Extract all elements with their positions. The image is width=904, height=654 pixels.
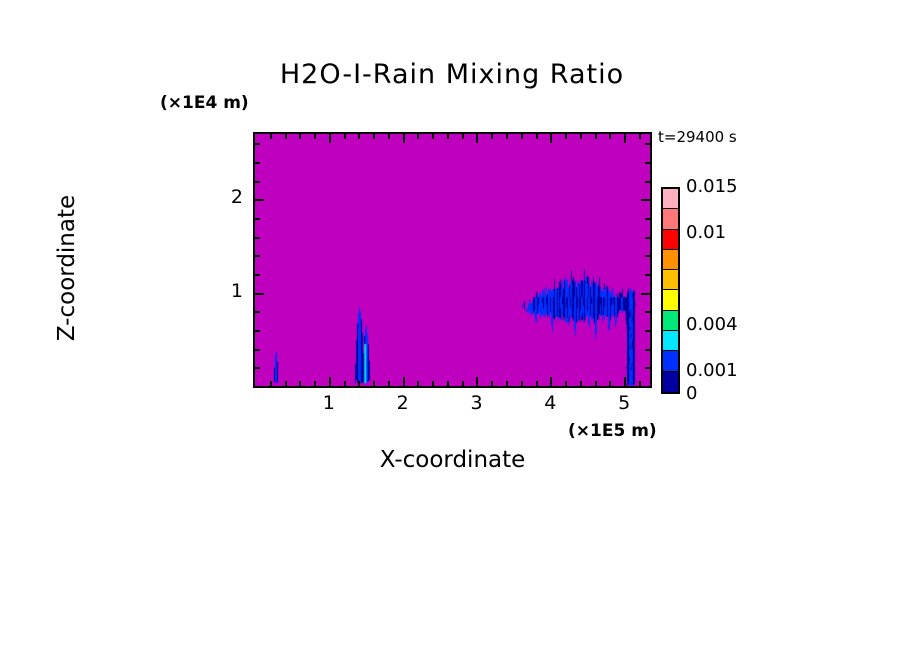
x-tick-label: 4 [530, 392, 570, 414]
x-tick-label: 5 [604, 392, 644, 414]
y-tick-label: 1 [213, 280, 243, 302]
x-tick [536, 381, 538, 386]
x-axis-title: X-coordinate [253, 447, 652, 473]
x-tick [447, 381, 449, 386]
x-tick-top [285, 134, 287, 139]
x-tick [314, 381, 316, 386]
x-tick [595, 381, 597, 386]
x-tick-top [536, 134, 538, 139]
x-tick-top [639, 134, 641, 139]
x-tick-top [595, 134, 597, 139]
contour-field [255, 134, 650, 386]
y-tick-right [641, 199, 650, 201]
y-tick [255, 274, 260, 276]
y-tick-right [645, 311, 650, 313]
y-tick [255, 218, 260, 220]
y-tick [255, 199, 264, 201]
x-tick [639, 381, 641, 386]
x-tick [521, 381, 523, 386]
x-tick [329, 377, 331, 386]
colorbar-segment [663, 331, 678, 351]
y-tick-right [645, 162, 650, 164]
y-tick-right [645, 274, 650, 276]
time-annotation: t=29400 s [658, 128, 737, 146]
x-tick-top [299, 134, 301, 139]
x-tick [476, 377, 478, 386]
x-tick [462, 381, 464, 386]
x-tick-top [476, 134, 478, 143]
y-tick [255, 143, 260, 145]
x-tick-top [491, 134, 493, 139]
y-tick-label: 2 [213, 186, 243, 208]
x-tick-top [506, 134, 508, 139]
colorbar-segment [663, 250, 678, 270]
colorbar-segment [663, 290, 678, 310]
y-tick [255, 367, 260, 369]
x-tick-label: 2 [383, 392, 423, 414]
colorbar-segment [663, 372, 678, 392]
y-tick-right [645, 349, 650, 351]
x-tick [624, 377, 626, 386]
x-tick-top [521, 134, 523, 139]
x-tick-top [462, 134, 464, 139]
y-axis-title: Z-coordinate [54, 138, 80, 398]
colorbar-tick-label: 0.01 [686, 222, 726, 243]
x-tick-label: 3 [456, 392, 496, 414]
y-tick [255, 330, 260, 332]
x-tick [432, 381, 434, 386]
y-tick [255, 181, 260, 183]
y-tick-right [645, 367, 650, 369]
x-tick-top [624, 134, 626, 143]
colorbar-tick-label: 0 [686, 383, 697, 404]
x-tick-top [432, 134, 434, 139]
x-tick-top [417, 134, 419, 139]
x-tick-top [344, 134, 346, 139]
y-tick-right [645, 237, 650, 239]
x-tick [358, 381, 360, 386]
x-tick [565, 381, 567, 386]
x-axis-units-label: (×1E5 m) [568, 421, 657, 441]
x-tick-label: 1 [309, 392, 349, 414]
x-tick [506, 381, 508, 386]
x-tick [270, 381, 272, 386]
y-tick-right [645, 143, 650, 145]
y-tick [255, 162, 260, 164]
x-tick-top [314, 134, 316, 139]
x-tick [344, 381, 346, 386]
x-tick-top [609, 134, 611, 139]
colorbar-segment [663, 311, 678, 331]
colorbar-tick-label: 0.004 [686, 314, 738, 335]
x-tick [580, 381, 582, 386]
colorbar-segment [663, 270, 678, 290]
y-tick [255, 311, 260, 313]
x-tick [491, 381, 493, 386]
x-tick-top [388, 134, 390, 139]
y-tick [255, 237, 260, 239]
x-tick [285, 381, 287, 386]
y-tick-right [645, 255, 650, 257]
x-tick [609, 381, 611, 386]
x-tick-top [447, 134, 449, 139]
x-tick-top [329, 134, 331, 143]
y-tick-right [645, 330, 650, 332]
x-tick [373, 381, 375, 386]
x-tick [403, 377, 405, 386]
colorbar-segment [663, 230, 678, 250]
x-tick-top [550, 134, 552, 143]
page-title: H2O-I-Rain Mixing Ratio [0, 59, 904, 90]
x-tick-top [358, 134, 360, 139]
x-tick-top [403, 134, 405, 143]
x-tick [417, 381, 419, 386]
x-tick [299, 381, 301, 386]
x-tick-top [373, 134, 375, 139]
colorbar [661, 187, 680, 394]
y-tick [255, 255, 260, 257]
x-tick [550, 377, 552, 386]
plot-area [253, 132, 652, 388]
colorbar-segment [663, 351, 678, 371]
y-tick [255, 293, 264, 295]
colorbar-segment [663, 209, 678, 229]
colorbar-tick-label: 0.001 [686, 360, 738, 381]
y-tick [255, 349, 260, 351]
y-tick-right [641, 293, 650, 295]
x-tick-top [270, 134, 272, 139]
y-tick-right [645, 218, 650, 220]
colorbar-tick-label: 0.015 [686, 176, 738, 197]
colorbar-segment [663, 189, 678, 209]
figure-canvas: H2O-I-Rain Mixing Ratio (×1E4 m) t=29400… [0, 0, 904, 654]
y-tick-right [645, 181, 650, 183]
x-tick [388, 381, 390, 386]
y-axis-units-label: (×1E4 m) [160, 93, 249, 113]
x-tick-top [565, 134, 567, 139]
x-tick-top [580, 134, 582, 139]
